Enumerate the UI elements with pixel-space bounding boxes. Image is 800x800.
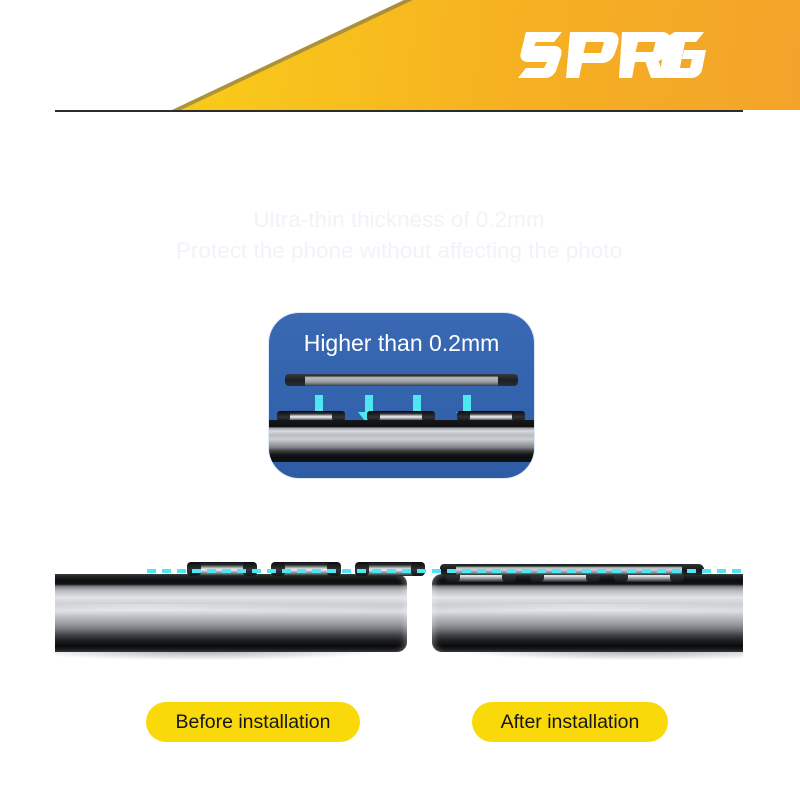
before-installation-label: Before installation bbox=[146, 702, 360, 742]
header bbox=[0, 0, 800, 110]
page-title: SUPER THIN · INVISIBLE bbox=[79, 137, 719, 193]
callout-label: Higher than 0.2mm bbox=[269, 329, 534, 357]
phone-body bbox=[55, 574, 407, 652]
phone-shadow bbox=[432, 650, 743, 664]
phone-body bbox=[432, 574, 743, 652]
subtitle-line-1: Ultra-thin thickness of 0.2mm bbox=[55, 205, 743, 235]
product-feature-banner: SUPER THIN · INVISIBLE Ultra-thin thickn… bbox=[0, 0, 800, 800]
height-guide-dashed-line bbox=[147, 569, 743, 573]
phone-shadow bbox=[55, 650, 407, 664]
main-panel: SUPER THIN · INVISIBLE Ultra-thin thickn… bbox=[55, 110, 743, 800]
phone-before-installation bbox=[55, 550, 407, 670]
panel-top-border bbox=[55, 110, 743, 112]
sprig-logo bbox=[518, 26, 708, 84]
after-installation-label: After installation bbox=[472, 702, 668, 742]
before-after-comparison bbox=[55, 550, 743, 685]
callout-phone-cross-section bbox=[269, 410, 534, 462]
lens-protector-strip bbox=[285, 374, 518, 386]
callout-phone-body bbox=[269, 420, 534, 462]
height-callout-box: Higher than 0.2mm bbox=[269, 313, 534, 478]
subtitle-line-2: Protect the phone without affecting the … bbox=[55, 236, 743, 266]
phone-after-installation bbox=[432, 550, 743, 670]
phone-body-sheen bbox=[55, 604, 407, 612]
phone-body-sheen bbox=[432, 604, 743, 612]
